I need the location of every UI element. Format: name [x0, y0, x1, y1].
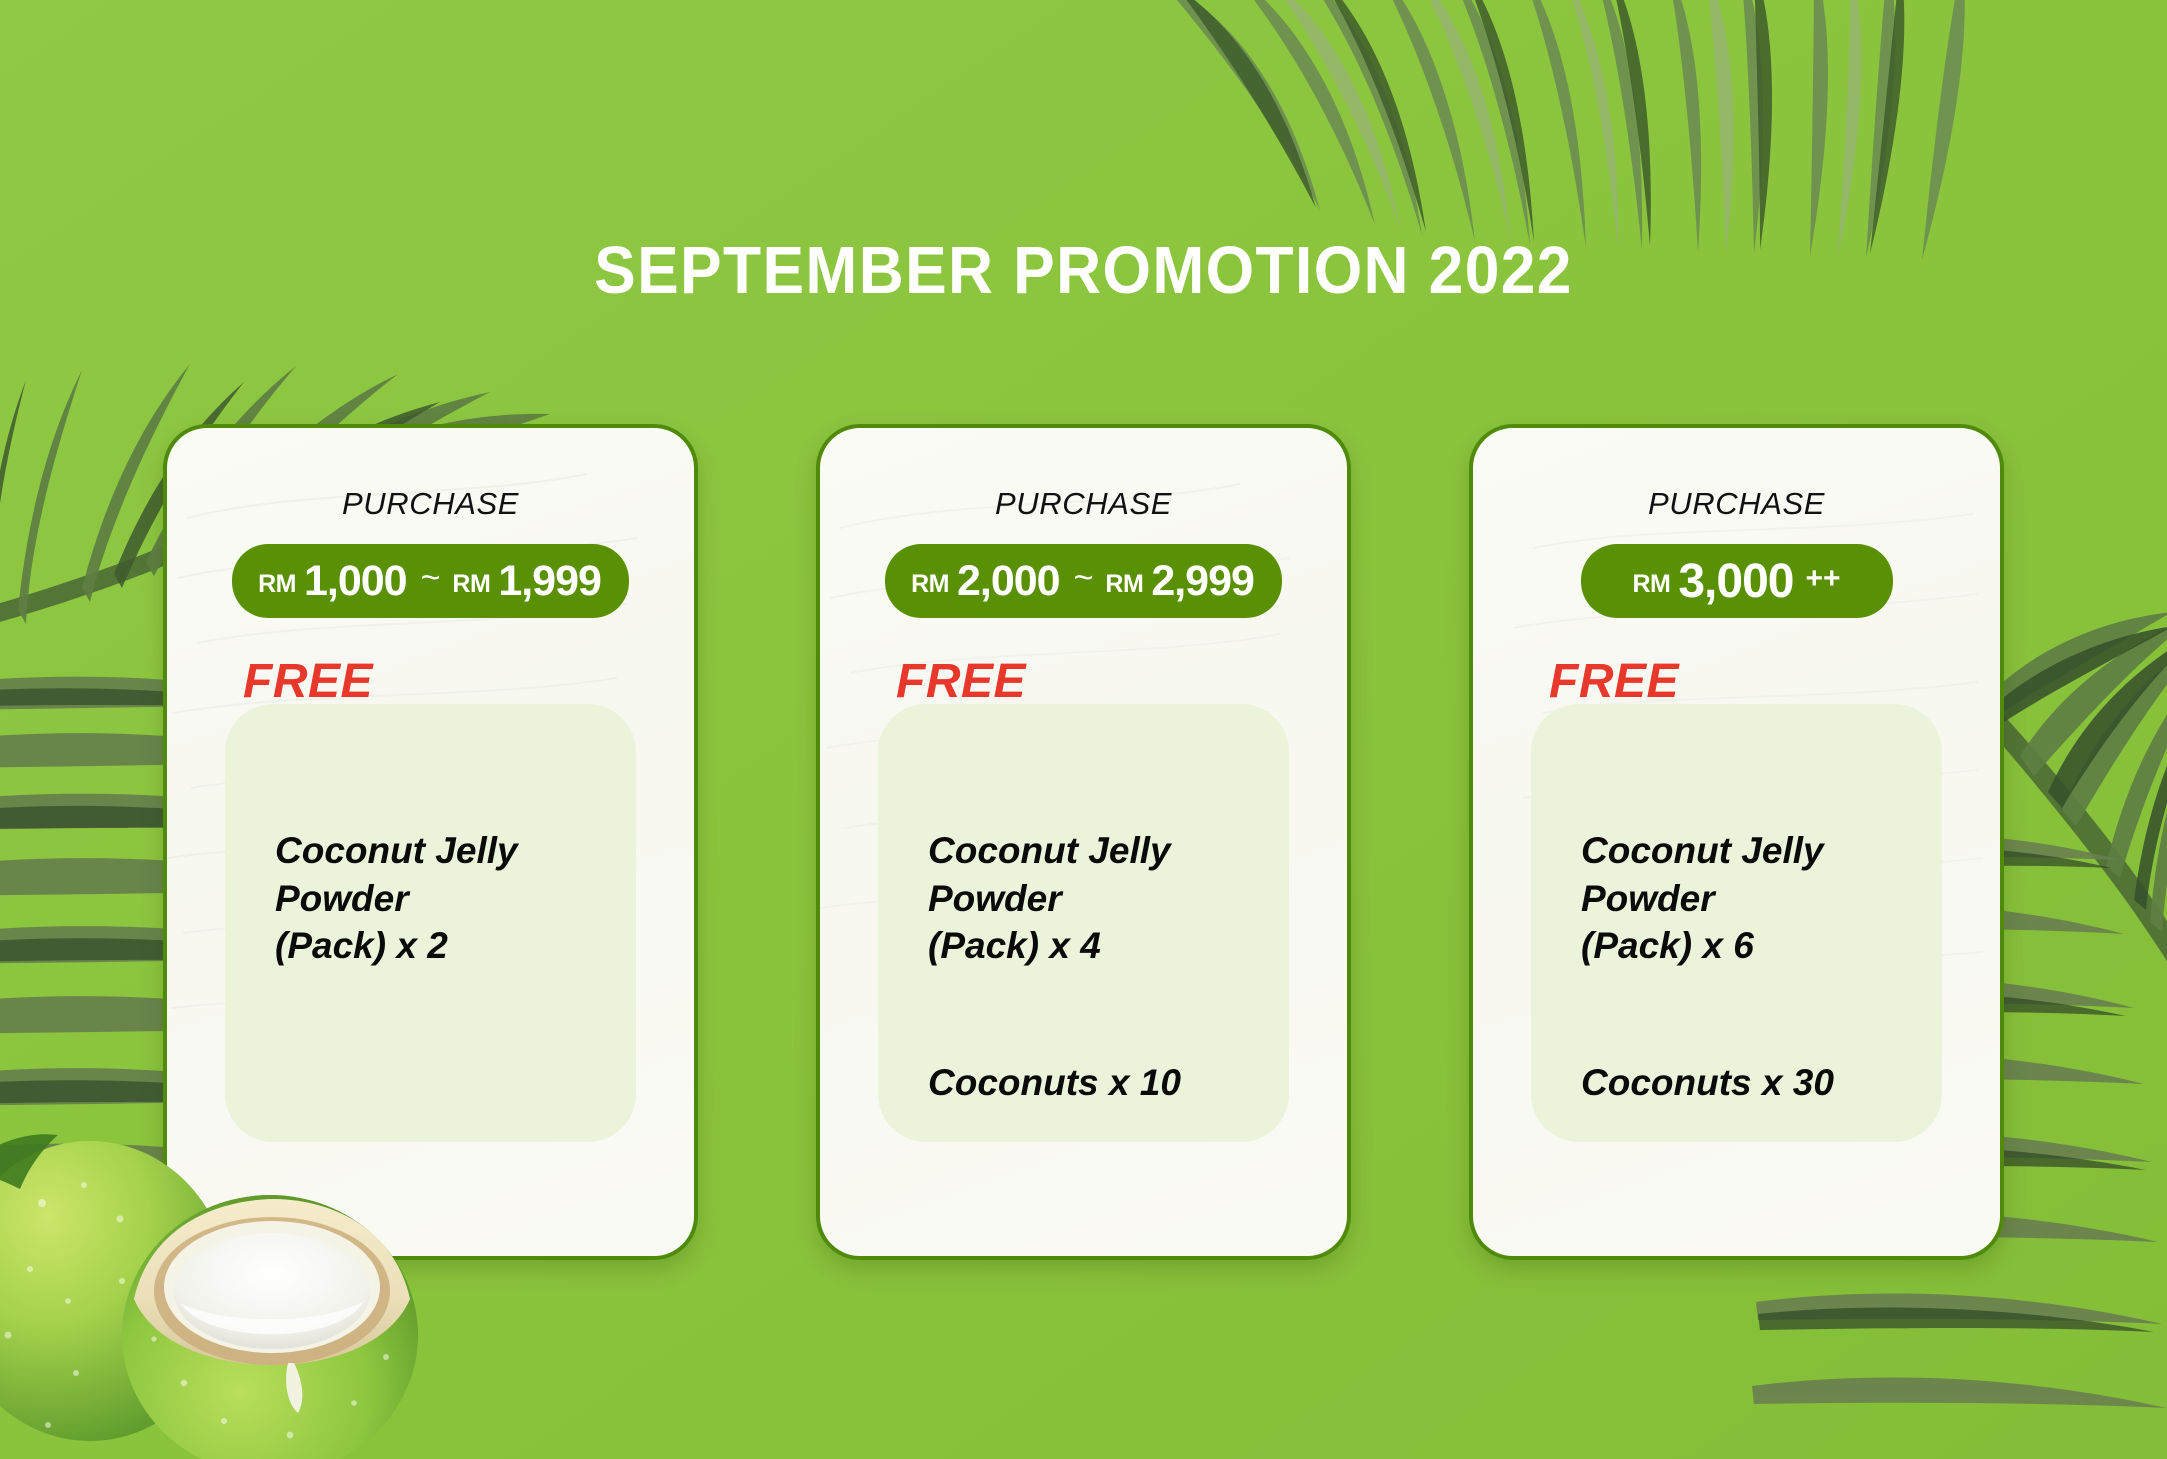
- price-pill[interactable]: RM 1,000 ~ RM 1,999: [232, 544, 629, 618]
- promo-card-tier-3[interactable]: PURCHASE RM 3,000 ++ FREE Coconut Jelly …: [1469, 424, 2004, 1260]
- range-separator: ~: [1074, 559, 1094, 598]
- promo-card-tier-2[interactable]: PURCHASE RM 2,000 ~ RM 2,999 FREE Coconu…: [816, 424, 1351, 1260]
- page-title: SEPTEMBER PROMOTION 2022: [76, 232, 2091, 309]
- purchase-label: PURCHASE: [995, 486, 1172, 522]
- free-badge: FREE: [1549, 654, 1679, 709]
- promo-card-list: PURCHASE RM 1,000 ~ RM 1,999 FREE Coconu…: [0, 424, 2167, 1264]
- amount-suffix: ++: [1805, 562, 1840, 596]
- amount-to: 2,999: [1151, 557, 1254, 606]
- price-pill[interactable]: RM 2,000 ~ RM 2,999: [885, 544, 1282, 618]
- gift-description: Coconut Jelly Powder (Pack) x 6 Coconuts…: [1581, 780, 1940, 1106]
- currency-label-2: RM: [452, 570, 490, 599]
- amount-to: 1,999: [498, 557, 601, 606]
- amount-from: 1,000: [304, 557, 407, 606]
- gift-extra-line: Coconuts x 10: [928, 1062, 1181, 1103]
- promotion-poster: SEPTEMBER PROMOTION 2022 PURCHASE RM: [0, 0, 2167, 1459]
- free-badge: FREE: [243, 654, 373, 709]
- amount-from: 2,000: [957, 557, 1060, 606]
- range-separator: ~: [421, 559, 441, 598]
- purchase-label: PURCHASE: [1648, 486, 1825, 522]
- gift-spacer: [275, 969, 634, 1011]
- gift-spacer: [1581, 969, 1940, 1011]
- gift-description: Coconut Jelly Powder (Pack) x 2: [275, 780, 634, 1106]
- promo-card-tier-1[interactable]: PURCHASE RM 1,000 ~ RM 1,999 FREE Coconu…: [163, 424, 698, 1260]
- currency-label: RM: [1632, 570, 1670, 599]
- gift-extra-line: Coconuts x 30: [1581, 1062, 1834, 1103]
- gift-description: Coconut Jelly Powder (Pack) x 4 Coconuts…: [928, 780, 1287, 1106]
- gift-spacer: [928, 969, 1287, 1011]
- gift-main-lines: Coconut Jelly Powder (Pack) x 6: [1581, 830, 1824, 966]
- currency-label-2: RM: [1105, 570, 1143, 599]
- price-pill[interactable]: RM 3,000 ++: [1581, 544, 1893, 618]
- free-badge: FREE: [896, 654, 1026, 709]
- currency-label: RM: [911, 570, 949, 599]
- currency-label: RM: [258, 570, 296, 599]
- purchase-label: PURCHASE: [342, 486, 519, 522]
- gift-main-lines: Coconut Jelly Powder (Pack) x 4: [928, 830, 1171, 966]
- amount-from: 3,000: [1678, 554, 1793, 609]
- gift-main-lines: Coconut Jelly Powder (Pack) x 2: [275, 830, 518, 966]
